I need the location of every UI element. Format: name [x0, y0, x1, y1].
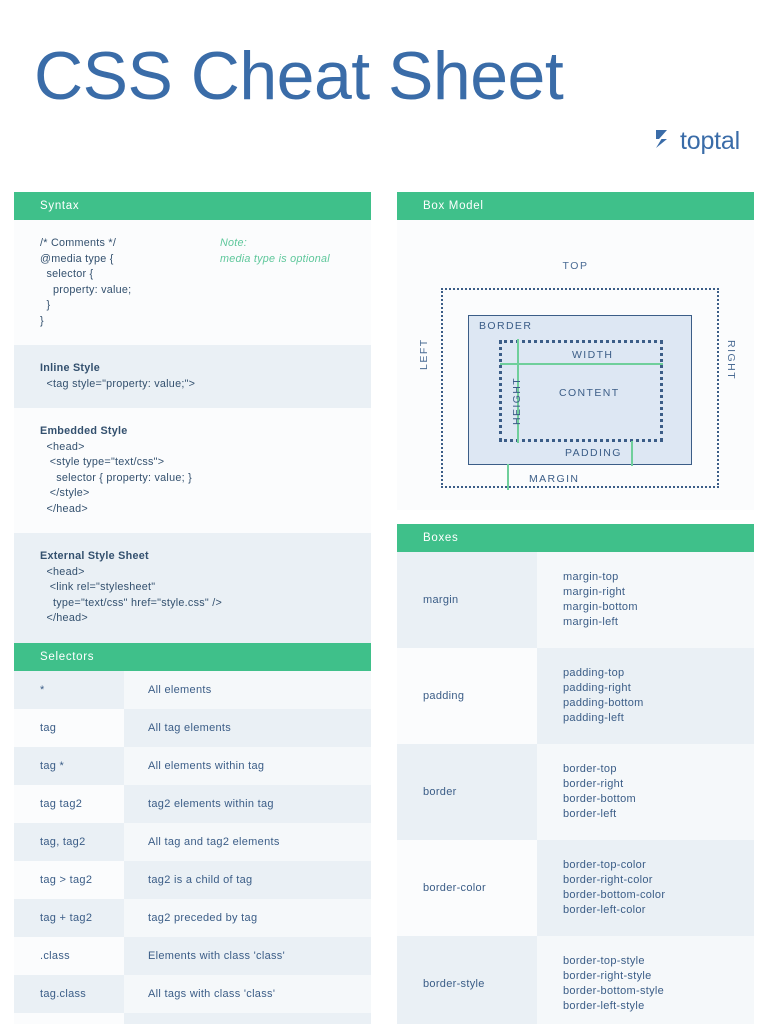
table-row: tagAll tag elements — [14, 709, 371, 747]
syntax-note-label: Note: — [220, 237, 247, 249]
syntax-code-inline-style: <tag style="property: value;"> — [40, 377, 345, 393]
table-row: .classElements with class 'class' — [14, 937, 371, 975]
box-property-cell: border-color — [397, 840, 537, 936]
box-model-label-margin: MARGIN — [529, 473, 579, 485]
box-model-diagram: TOP BOTTOM LEFT RIGHT BORDER WIDTH HEIGH… — [397, 220, 754, 510]
selector-cell: tag, tag2 — [14, 823, 124, 861]
section-header-syntax: Syntax — [14, 192, 371, 220]
selector-cell: #id — [14, 1013, 124, 1024]
boxes-table: marginmargin-top margin-right margin-bot… — [397, 552, 754, 1024]
box-model-label-padding: PADDING — [565, 447, 622, 459]
box-subproperties-cell: border-top border-right border-bottom bo… — [537, 744, 754, 840]
syntax-note-text: media type is optional — [220, 253, 330, 265]
section-header-boxes: Boxes — [397, 524, 754, 552]
syntax-block-inline-style: Inline Style <tag style="property: value… — [14, 345, 371, 408]
box-property-cell: margin — [397, 552, 537, 648]
syntax-title-external-style-sheet: External Style Sheet — [40, 549, 345, 565]
selector-cell: tag + tag2 — [14, 899, 124, 937]
syntax-note: Note:media type is optional — [220, 236, 330, 267]
selector-description-cell: tag2 elements within tag — [124, 785, 371, 823]
selector-cell: .class — [14, 937, 124, 975]
selectors-table-body: *All elementstagAll tag elementstag *All… — [14, 671, 371, 1024]
table-row: tag *All elements within tag — [14, 747, 371, 785]
box-model-label-content: CONTENT — [559, 387, 620, 399]
table-row: border-colorborder-top-color border-righ… — [397, 840, 754, 936]
table-row: paddingpadding-top padding-right padding… — [397, 648, 754, 744]
syntax-block-embedded-style: Embedded Style <head> <style type="text/… — [14, 408, 371, 533]
table-row: borderborder-top border-right border-bot… — [397, 744, 754, 840]
box-property-cell: border — [397, 744, 537, 840]
table-row: border-styleborder-top-style border-righ… — [397, 936, 754, 1024]
page-title: CSS Cheat Sheet — [34, 42, 563, 110]
selector-description-cell: All elements — [124, 671, 371, 709]
brand-logo: toptal — [653, 128, 740, 155]
box-property-cell: padding — [397, 648, 537, 744]
box-model-label-right: RIGHT — [725, 340, 737, 380]
box-model-padding-guide-vertical — [631, 441, 633, 466]
table-row: tag, tag2All tag and tag2 elements — [14, 823, 371, 861]
selector-description-cell: Elements with class 'class' — [124, 937, 371, 975]
selector-description-cell: All elements within tag — [124, 747, 371, 785]
cheat-sheet-page: CSS Cheat Sheet toptal Syntax /* Comment… — [0, 0, 768, 1024]
box-model-label-border: BORDER — [479, 320, 532, 332]
box-model-margin-guide-vertical — [507, 464, 509, 490]
selector-cell: tag tag2 — [14, 785, 124, 823]
syntax-block-comments: /* Comments */ @media type { selector { … — [14, 220, 371, 345]
box-subproperties-cell: padding-top padding-right padding-bottom… — [537, 648, 754, 744]
table-row: tag > tag2tag2 is a child of tag — [14, 861, 371, 899]
boxes-table-body: marginmargin-top margin-right margin-bot… — [397, 552, 754, 1024]
table-row: tag + tag2tag2 preceded by tag — [14, 899, 371, 937]
section-header-selectors: Selectors — [14, 643, 371, 671]
table-row: tag.classAll tags with class 'class' — [14, 975, 371, 1013]
box-model-label-height: HEIGHT — [511, 377, 523, 425]
table-row: #idElement with id 'id' — [14, 1013, 371, 1024]
column-spacer — [397, 510, 754, 524]
selector-description-cell: tag2 preceded by tag — [124, 899, 371, 937]
table-row: *All elements — [14, 671, 371, 709]
box-subproperties-cell: margin-top margin-right margin-bottom ma… — [537, 552, 754, 648]
syntax-code-external-style-sheet: <head> <link rel="stylesheet" type="text… — [40, 565, 345, 627]
selector-cell: tag * — [14, 747, 124, 785]
selector-description-cell: Element with id 'id' — [124, 1013, 371, 1024]
syntax-code-embedded-style: <head> <style type="text/css"> selector … — [40, 440, 345, 518]
box-model-label-top: TOP — [397, 260, 754, 272]
toptal-logo-icon — [653, 128, 673, 155]
syntax-title-inline-style: Inline Style — [40, 361, 345, 377]
box-subproperties-cell: border-top-style border-right-style bord… — [537, 936, 754, 1024]
selector-cell: tag — [14, 709, 124, 747]
syntax-block-external-style-sheet: External Style Sheet <head> <link rel="s… — [14, 533, 371, 643]
selector-cell: * — [14, 671, 124, 709]
box-model-label-left: LEFT — [418, 338, 430, 370]
box-model-label-width: WIDTH — [572, 349, 613, 361]
section-header-box-model: Box Model — [397, 192, 754, 220]
selector-description-cell: All tag elements — [124, 709, 371, 747]
table-row: marginmargin-top margin-right margin-bot… — [397, 552, 754, 648]
left-column: Syntax /* Comments */ @media type { sele… — [14, 192, 371, 1024]
right-column: Box Model TOP BOTTOM LEFT RIGHT BORDER W… — [397, 192, 754, 1024]
syntax-title-embedded-style: Embedded Style — [40, 424, 345, 440]
selector-description-cell: All tag and tag2 elements — [124, 823, 371, 861]
box-property-cell: border-style — [397, 936, 537, 1024]
page-header: CSS Cheat Sheet toptal — [0, 0, 768, 180]
selector-description-cell: tag2 is a child of tag — [124, 861, 371, 899]
brand-name: toptal — [680, 129, 740, 154]
box-subproperties-cell: border-top-color border-right-color bord… — [537, 840, 754, 936]
selector-cell: tag.class — [14, 975, 124, 1013]
table-row: tag tag2tag2 elements within tag — [14, 785, 371, 823]
selector-cell: tag > tag2 — [14, 861, 124, 899]
selector-description-cell: All tags with class 'class' — [124, 975, 371, 1013]
box-model-width-guide-horizontal — [500, 363, 663, 365]
selectors-table: *All elementstagAll tag elementstag *All… — [14, 671, 371, 1024]
